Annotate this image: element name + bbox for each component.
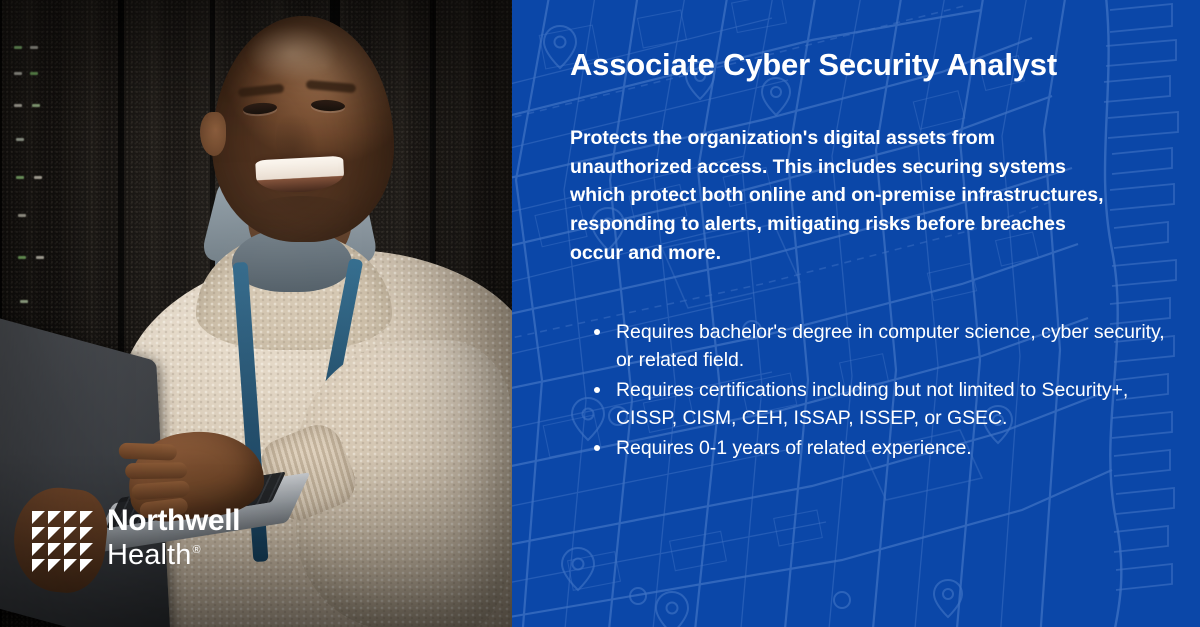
list-item: Requires certifications including but no… [586, 376, 1166, 432]
requirements-list: Requires bachelor's degree in computer s… [586, 318, 1166, 464]
northwell-triangle-grid-icon [32, 511, 93, 572]
logo-wordmark-secondary: Health [107, 539, 191, 571]
page-title: Associate Cyber Security Analyst [570, 48, 1162, 82]
list-item: Requires bachelor's degree in computer s… [586, 318, 1166, 374]
job-summary: Protects the organization's digital asse… [570, 124, 1110, 267]
northwell-health-logo: Northwell Health® [32, 506, 240, 572]
logo-wordmark-primary: Northwell [107, 506, 240, 536]
list-item: Requires 0-1 years of related experience… [586, 434, 1166, 462]
registered-trademark-icon: ® [192, 544, 200, 556]
job-ad-banner: Northwell Health® [0, 0, 1200, 627]
subject-ear [200, 112, 226, 156]
hero-photo: Northwell Health® [0, 0, 512, 627]
content-panel: Associate Cyber Security Analyst Protect… [512, 0, 1200, 627]
subject-chin-shadow [250, 196, 354, 230]
subject-head-highlight [246, 24, 338, 82]
